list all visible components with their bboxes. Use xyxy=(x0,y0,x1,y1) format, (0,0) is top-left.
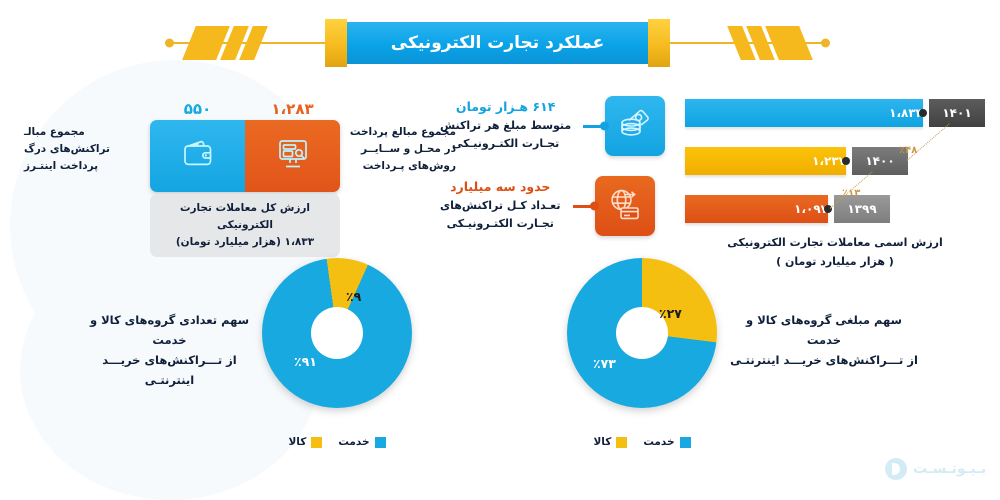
bar-year-label: ۱۴۰۱ xyxy=(929,99,985,127)
banner-cap-left xyxy=(325,19,347,67)
donut-caption-line2: از تـــراکنش‌های خریـــد اینترنتـی xyxy=(729,350,919,370)
wallet-icon xyxy=(181,139,215,173)
legend-label: خدمت xyxy=(338,436,369,448)
legend-swatch-icon xyxy=(616,437,627,448)
infographic-canvas: عملکرد تجارت الکترونیکی ۱،۲۸۳ ۵۵۰ xyxy=(0,0,1000,500)
donut-legend: خدمت کالا xyxy=(262,436,412,448)
bar-track: ۱،۲۳۷ xyxy=(685,147,846,175)
payment-caption-online: مجموع مبالـ تراکنش‌های درگ پرداخت اینتـر… xyxy=(24,124,144,175)
bar-row: ۱۴۰۰ ۱،۲۳۷ xyxy=(685,146,908,176)
bar-endpoint xyxy=(842,157,850,165)
watermark-logo-icon xyxy=(885,458,907,480)
bar-chart-title: ارزش اسمی معاملات تجارت الکترونیکی xyxy=(685,234,985,253)
donut-slice-label-kala: ٪۹۱ xyxy=(294,354,317,369)
stat-text-block: حدود سه میلیارد تعـداد کـل تراکنش‌های تج… xyxy=(440,179,561,232)
donut-ring: ٪۹۱ ٪۹ xyxy=(262,258,412,408)
legend-label: کالا xyxy=(288,436,306,448)
bar-endpoint xyxy=(919,109,927,117)
bar-fill: ۱،۰۹۷ xyxy=(685,195,828,223)
banner-core: عملکرد تجارت الکترونیکی xyxy=(340,22,655,64)
legend-label: کالا xyxy=(593,436,611,448)
legend-item-khedmat: خدمت xyxy=(643,436,690,448)
bar-value-label: ۱،۰۹۷ xyxy=(794,202,828,216)
payment-total-title: ارزش کل معاملات تجارت الکترونیکی xyxy=(158,200,332,234)
legend-item-kala: کالا xyxy=(593,436,627,448)
legend-item-kala: کالا xyxy=(288,436,322,448)
payment-icon-boxes xyxy=(150,120,340,192)
legend-swatch-icon xyxy=(680,437,691,448)
donut-caption: سهم تعدادی گروه‌های کالا و خدمت از تـــر… xyxy=(82,310,257,391)
donut-hole xyxy=(311,307,363,359)
count-share-donut-chart: ٪۹۱ ٪۹ سهم تعدادی گروه‌های کالا و خدمت ا… xyxy=(262,258,412,408)
donut-caption-line1: سهم مبلغی گروه‌های کالا و خدمت xyxy=(729,310,919,350)
payment-box-online xyxy=(245,120,340,192)
donut-caption: سهم مبلغی گروه‌های کالا و خدمت از تـــرا… xyxy=(729,310,919,370)
stat-connector xyxy=(573,205,595,208)
payment-value-offline: ۵۵۰ xyxy=(150,100,245,118)
bar-chart-subtitle: ( هزار میلیارد تومان ) xyxy=(685,253,985,272)
legend-item-khedmat: خدمت xyxy=(338,436,385,448)
donut-legend: خدمت کالا xyxy=(567,436,717,448)
stat-icon-wrapper xyxy=(595,176,655,236)
value-share-donut-chart: ٪۷۳ ٪۲۷ سهم مبلغی گروه‌های کالا و خدمت ا… xyxy=(567,258,717,408)
stat-connector xyxy=(583,125,605,128)
payment-total-value: ۱،۸۳۳ (هزار میلیارد تومان) xyxy=(158,234,332,251)
payment-box-offline xyxy=(150,120,245,192)
banner-dot-right xyxy=(821,39,830,48)
donut-slice-label-khedmat: ٪۹ xyxy=(346,289,361,304)
payment-value-online: ۱،۲۸۳ xyxy=(245,100,340,118)
legend-swatch-icon xyxy=(311,437,322,448)
bar-track: ۱،۰۹۷ xyxy=(685,195,828,223)
banner-wing-right xyxy=(734,26,806,60)
page-title: عملکرد تجارت الکترونیکی xyxy=(391,33,604,53)
donut-caption-line2: از تـــراکنش‌های خریـــد اینترنتـی xyxy=(82,350,257,390)
stat-value: حدود سه میلیارد xyxy=(440,179,561,194)
stat-row-total-transactions: حدود سه میلیارد تعـداد کـل تراکنش‌های تج… xyxy=(440,176,655,236)
payment-terminal-icon xyxy=(276,138,310,174)
money-stack-icon xyxy=(618,107,652,145)
banner-cap-right xyxy=(648,19,670,67)
bar-chart-caption: ارزش اسمی معاملات تجارت الکترونیکی ( هزا… xyxy=(685,234,985,271)
stat-label-line2: تجـارت الکتـرونیـکی xyxy=(440,135,571,153)
bar-track: ۱،۸۳۳ xyxy=(685,99,923,127)
bar-value-label: ۱،۲۳۷ xyxy=(812,154,846,168)
bar-fill: ۱،۲۳۷ xyxy=(685,147,846,175)
donut-caption-line1: سهم تعدادی گروه‌های کالا و خدمت xyxy=(82,310,257,350)
stat-value: ۶۱۴ هـزار تومان xyxy=(440,99,571,114)
title-banner: عملکرد تجارت الکترونیکی xyxy=(165,22,830,64)
banner-dot-left xyxy=(165,39,174,48)
bar-row: ۱۴۰۱ ۱،۸۳۳ xyxy=(685,98,985,128)
stat-label-line1: متوسط مبلغ هر تراکنش xyxy=(440,117,571,135)
bar-fill: ۱،۸۳۳ xyxy=(685,99,923,127)
watermark-text: بـیـوتـسـت xyxy=(913,461,986,477)
stat-label-line1: تعـداد کـل تراکنش‌های xyxy=(440,197,561,215)
legend-swatch-icon xyxy=(375,437,386,448)
stat-label-line2: تجـارت الکتـرونیـکی xyxy=(440,215,561,233)
globe-card-icon xyxy=(608,187,642,225)
donut-slice-label-kala: ٪۷۳ xyxy=(593,356,616,371)
donut-ring: ٪۷۳ ٪۲۷ xyxy=(567,258,717,408)
legend-label: خدمت xyxy=(643,436,674,448)
growth-label-1400: ٪۱۳ xyxy=(842,188,860,199)
banner-wing-left xyxy=(189,26,261,60)
watermark: بـیـوتـسـت xyxy=(885,458,986,480)
stat-icon-wrapper xyxy=(605,96,665,156)
payment-values-row: ۱،۲۸۳ ۵۵۰ xyxy=(150,100,340,118)
bar-value-label: ۱،۸۳۳ xyxy=(889,106,923,120)
donut-slice-label-khedmat: ٪۲۷ xyxy=(659,306,682,321)
growth-label-1401: ٪۴۸ xyxy=(899,145,917,156)
payment-total-box: ارزش کل معاملات تجارت الکترونیکی ۱،۸۳۳ (… xyxy=(150,194,340,257)
stat-row-average-transaction: ۶۱۴ هـزار تومان متوسط مبلغ هر تراکنش تجـ… xyxy=(440,96,665,156)
bar-year-label: ۱۳۹۹ xyxy=(834,195,890,223)
stat-text-block: ۶۱۴ هـزار تومان متوسط مبلغ هر تراکنش تجـ… xyxy=(440,99,571,152)
